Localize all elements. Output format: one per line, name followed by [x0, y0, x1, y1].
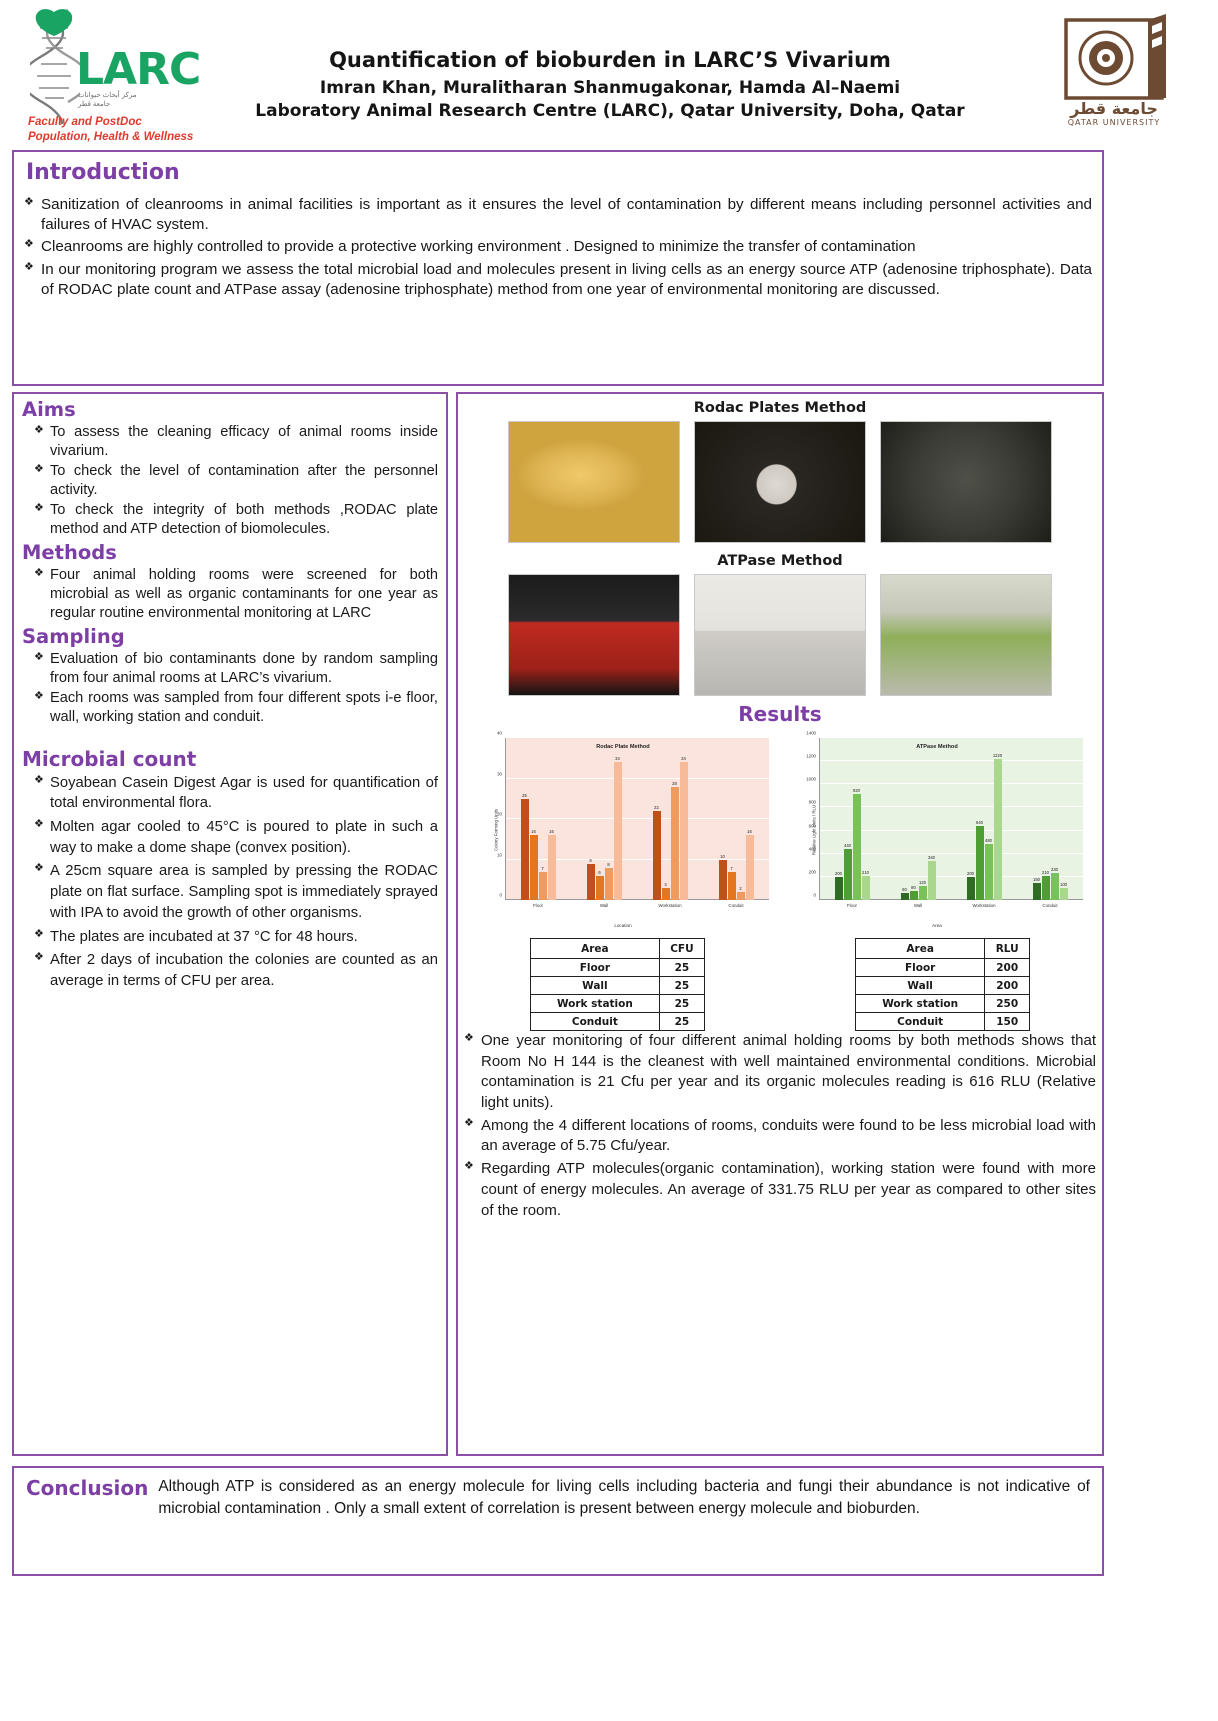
list-item: Evaluation of bio contaminants done by r… [34, 650, 438, 688]
larc-tagline-2: Population, Health & Wellness [28, 131, 193, 143]
chart-x-category-label: Floor [505, 903, 571, 908]
data-tables-row: Area CFU Floor 25 Wall 25 Work station 2… [464, 938, 1096, 1031]
chart-x-category-label: Conduit [703, 903, 769, 908]
chart-bar-value-label: 9 [589, 858, 591, 863]
list-item: Each rooms was sampled from four differe… [34, 689, 438, 727]
larc-wordmark: LARC [76, 44, 200, 95]
microbial-count-heading: Microbial count [22, 747, 438, 771]
chart-bar-value-label: 16 [747, 829, 752, 834]
chart-bar-group: 96834Wall [571, 738, 637, 900]
chart-bar-value-label: 100 [1060, 882, 1067, 887]
table-row: Floor 200 [856, 959, 1030, 977]
cell-area: Work station [856, 995, 985, 1013]
introduction-panel: Introduction Sanitization of cleanrooms … [12, 150, 1104, 386]
list-item: Regarding ATP molecules(organic contamin… [464, 1159, 1096, 1221]
sampling-bullets: Evaluation of bio contaminants done by r… [34, 650, 438, 727]
cell-area: Conduit [856, 1013, 985, 1031]
introduction-heading: Introduction [26, 160, 1092, 185]
atpase-method-caption: ATPase Method [464, 553, 1096, 569]
chart-bar: 100 [1060, 888, 1068, 900]
cell-value: 25 [659, 977, 704, 995]
list-item: The plates are incubated at 37 °C for 48… [34, 927, 438, 948]
table-row: Wall 25 [531, 977, 705, 995]
chart-y-tick-label: 800 [809, 800, 816, 805]
cell-area: Work station [531, 995, 660, 1013]
larc-logo: LARC مركز أبحاث حيواناتجامعة قطر Faculty… [18, 4, 248, 146]
chart-title: Rodac Plate Method [473, 744, 773, 750]
list-item: Cleanrooms are highly controlled to prov… [24, 237, 1092, 257]
svg-text:جامعة قطر: جامعة قطر [1069, 99, 1158, 118]
chart-bar-value-label: 10 [720, 854, 725, 859]
rodac-image-row [464, 421, 1096, 543]
cell-value: 200 [985, 977, 1030, 995]
chart-bar: 10 [719, 860, 727, 901]
chart-bar-value-label: 25 [522, 793, 527, 798]
chart-bar-value-label: 16 [549, 829, 554, 834]
methods-heading: Methods [22, 541, 438, 564]
chart-x-axis-label: Area [787, 923, 1087, 928]
poster-affiliation: Laboratory Animal Research Centre (LARC)… [250, 101, 970, 121]
chart-bar-value-label: 1220 [993, 753, 1002, 758]
chart-x-axis-label: Location [473, 923, 773, 928]
chart-bar: 230 [1051, 873, 1059, 900]
conclusion-panel: Conclusion Although ATP is considered as… [12, 1466, 1104, 1576]
chart-bar-group: 107216Conduit [703, 738, 769, 900]
chart-plot-area: 0102030402516716Floor96834Wall2232834Wor… [505, 738, 769, 900]
chart-y-tick-label: 1200 [806, 754, 816, 759]
agar-plates-photo [508, 421, 680, 543]
chart-bar-group: 6080120340Wall [885, 738, 951, 900]
chart-bar: 16 [746, 835, 754, 900]
chart-y-tick-label: 0 [500, 893, 502, 898]
chart-bar-value-label: 80 [911, 885, 916, 890]
list-item: To check the integrity of both methods ,… [34, 501, 438, 539]
rlu-table: Area RLU Floor 200 Wall 200 Work station… [855, 938, 1030, 1031]
chart-bar-value-label: 8 [607, 862, 609, 867]
microbial-count-bullets: Soyabean Casein Digest Agar is used for … [34, 773, 438, 992]
poster-title: Quantification of bioburden in LARC’S Vi… [250, 46, 970, 74]
cell-value: 200 [985, 959, 1030, 977]
list-item: One year monitoring of four different an… [464, 1031, 1096, 1114]
chart-bar: 3 [662, 888, 670, 900]
methods-bullets: Four animal holding rooms were screened … [34, 566, 438, 623]
table-row: Conduit 25 [531, 1013, 705, 1031]
chart-bar-value-label: 210 [862, 870, 869, 875]
chart-bar-value-label: 440 [844, 843, 851, 848]
chart-bar: 34 [614, 762, 622, 900]
cell-area: Wall [531, 977, 660, 995]
chart-bar: 480 [985, 844, 993, 900]
results-bullets: One year monitoring of four different an… [464, 1031, 1096, 1221]
table-row: Work station 25 [531, 995, 705, 1013]
table-row: Floor 25 [531, 959, 705, 977]
chart-bar: 28 [671, 787, 679, 900]
chart-bar: 22 [653, 811, 661, 900]
chart-bar-value-label: 6 [598, 870, 600, 875]
chart-x-category-label: Workstation [637, 903, 703, 908]
chart-bar-value-label: 34 [681, 756, 686, 761]
chart-y-tick-label: 30 [497, 771, 502, 776]
chart-y-tick-label: 1000 [806, 777, 816, 782]
chart-bar: 16 [548, 835, 556, 900]
svg-text:QATAR UNIVERSITY: QATAR UNIVERSITY [1068, 118, 1160, 127]
chart-bar-value-label: 230 [1051, 867, 1058, 872]
list-item: Sanitization of cleanrooms in animal fac… [24, 195, 1092, 235]
cell-area: Floor [856, 959, 985, 977]
colony-plate-photo [880, 421, 1052, 543]
chart-bar-value-label: 7 [541, 866, 543, 871]
chart-bar: 2 [737, 892, 745, 900]
chart-bar: 6 [596, 876, 604, 900]
cell-value: 25 [659, 959, 704, 977]
chart-bar-value-label: 16 [531, 829, 536, 834]
rodac-plate-method-chart: Rodac Plate MethodColony Forming UnitsLo… [473, 730, 773, 930]
chart-bar: 25 [521, 799, 529, 900]
column-header: Area [531, 939, 660, 959]
cell-area: Floor [531, 959, 660, 977]
chart-bar-value-label: 60 [902, 887, 907, 892]
right-column-panel: Rodac Plates Method ATPase Method Result… [456, 392, 1104, 1456]
chart-y-tick-label: 20 [497, 812, 502, 817]
aims-bullets: To assess the cleaning efficacy of anima… [34, 423, 438, 539]
chart-bar: 200 [967, 877, 975, 900]
chart-bar-value-label: 22 [654, 805, 659, 810]
column-header: CFU [659, 939, 704, 959]
cell-area: Wall [856, 977, 985, 995]
chart-bar: 1220 [994, 759, 1002, 900]
chart-title: ATPase Method [787, 744, 1087, 750]
chart-bar: 60 [901, 893, 909, 900]
list-item: Four animal holding rooms were screened … [34, 566, 438, 623]
table-header-row: Area CFU [531, 939, 705, 959]
table-row: Conduit 150 [856, 1013, 1030, 1031]
charts-row: Rodac Plate MethodColony Forming UnitsLo… [464, 730, 1096, 930]
column-header: RLU [985, 939, 1030, 959]
chart-bar-value-label: 210 [1042, 870, 1049, 875]
list-item: In our monitoring program we assess the … [24, 260, 1092, 300]
chart-bar: 16 [530, 835, 538, 900]
list-item: A 25cm square area is sampled by pressin… [34, 861, 438, 923]
cell-value: 250 [985, 995, 1030, 1013]
larc-arabic-subtitle: مركز أبحاث حيواناتجامعة قطر [78, 92, 137, 110]
chart-y-tick-label: 400 [809, 846, 816, 851]
chart-x-category-label: Wall [571, 903, 637, 908]
chart-y-tick-label: 1400 [806, 731, 816, 736]
chart-bar-value-label: 480 [985, 838, 992, 843]
column-header: Area [856, 939, 985, 959]
chart-bar-group: 2232834Workstation [637, 738, 703, 900]
chart-bar-value-label: 150 [1033, 877, 1040, 882]
chart-bar-value-label: 200 [967, 871, 974, 876]
chart-bar-value-label: 200 [835, 871, 842, 876]
poster-header: LARC مركز أبحاث حيواناتجامعة قطر Faculty… [0, 0, 1218, 148]
chart-plot-area: 0200400600800100012001400200440920210Flo… [819, 738, 1083, 900]
table-row: Wall 200 [856, 977, 1030, 995]
list-item: To check the level of contamination afte… [34, 462, 438, 500]
list-item: Molten agar cooled to 45°C is poured to … [34, 817, 438, 858]
chart-bar: 7 [728, 872, 736, 900]
list-item: To assess the cleaning efficacy of anima… [34, 423, 438, 461]
chart-bar-group: 200440920210Floor [819, 738, 885, 900]
rodac-method-caption: Rodac Plates Method [464, 400, 1096, 416]
chart-bar: 200 [835, 877, 843, 900]
larc-tagline-1: Faculty and PostDoc [28, 116, 142, 128]
chart-bar: 7 [539, 872, 547, 900]
list-item: Among the 4 different locations of rooms… [464, 1116, 1096, 1157]
chart-y-tick-label: 0 [814, 893, 816, 898]
title-block: Quantification of bioburden in LARC’S Vi… [250, 46, 970, 121]
chart-bar: 440 [844, 849, 852, 900]
chart-y-tick-label: 200 [809, 869, 816, 874]
cell-value: 150 [985, 1013, 1030, 1031]
chart-bar-group: 2006404801220Workstation [951, 738, 1017, 900]
chart-bar-value-label: 2 [739, 886, 741, 891]
conclusion-text: Although ATP is considered as an energy … [158, 1476, 1090, 1520]
results-heading: Results [464, 702, 1096, 726]
chart-bar: 34 [680, 762, 688, 900]
chart-x-category-label: Conduit [1017, 903, 1083, 908]
chart-bar-value-label: 120 [919, 880, 926, 885]
chart-y-tick-label: 600 [809, 823, 816, 828]
chart-x-category-label: Workstation [951, 903, 1017, 908]
chart-bar-group: 2516716Floor [505, 738, 571, 900]
table-header-row: Area RLU [856, 939, 1030, 959]
chart-bar: 8 [605, 868, 613, 900]
chart-bar: 210 [1042, 876, 1050, 900]
atpase-image-row [464, 574, 1096, 696]
chart-x-category-label: Floor [819, 903, 885, 908]
left-column-panel: Aims To assess the cleaning efficacy of … [12, 392, 448, 1456]
chart-bar: 640 [976, 826, 984, 900]
table-row: Work station 250 [856, 995, 1030, 1013]
chart-x-category-label: Wall [885, 903, 951, 908]
poster-authors: Imran Khan, Muralitharan Shanmugakonar, … [250, 78, 970, 98]
atpase-method-chart: ATPase MethodRelative Light Units / RLUA… [787, 730, 1087, 930]
chart-bar-value-label: 7 [730, 866, 732, 871]
introduction-bullets: Sanitization of cleanrooms in animal fac… [24, 195, 1092, 300]
chart-bar-value-label: 28 [672, 781, 677, 786]
chart-bar: 150 [1033, 883, 1041, 900]
list-item: Soyabean Casein Digest Agar is used for … [34, 773, 438, 814]
cell-value: 25 [659, 1013, 704, 1031]
chart-bar-value-label: 34 [615, 756, 620, 761]
chart-bar-group: 150210230100Conduit [1017, 738, 1083, 900]
qatar-university-logo: جامعة قطر QATAR UNIVERSITY [1048, 10, 1198, 130]
sampling-heading: Sampling [22, 625, 438, 648]
chart-bar: 340 [928, 861, 936, 900]
cfu-table: Area CFU Floor 25 Wall 25 Work station 2… [530, 938, 705, 1031]
chart-bar-value-label: 3 [664, 882, 666, 887]
luminometer-device-photo [880, 574, 1052, 696]
chart-bar: 120 [919, 886, 927, 900]
aims-heading: Aims [22, 398, 438, 421]
chart-bar: 920 [853, 794, 861, 900]
chart-bar: 210 [862, 876, 870, 900]
chart-bar-value-label: 340 [928, 855, 935, 860]
swab-tubes-rack-photo [508, 574, 680, 696]
chart-bar: 9 [587, 864, 595, 900]
technician-swabbing-floor-photo [694, 574, 866, 696]
list-item: After 2 days of incubation the colonies … [34, 950, 438, 991]
chart-y-tick-label: 40 [497, 731, 502, 736]
cell-value: 25 [659, 995, 704, 1013]
conclusion-heading: Conclusion [26, 1476, 148, 1500]
gloved-hand-plate-photo [694, 421, 866, 543]
cell-area: Conduit [531, 1013, 660, 1031]
chart-y-tick-label: 10 [497, 852, 502, 857]
chart-bar-value-label: 920 [853, 788, 860, 793]
dna-helix-icon [30, 6, 80, 126]
chart-bar-value-label: 640 [976, 820, 983, 825]
chart-bar: 80 [910, 891, 918, 900]
